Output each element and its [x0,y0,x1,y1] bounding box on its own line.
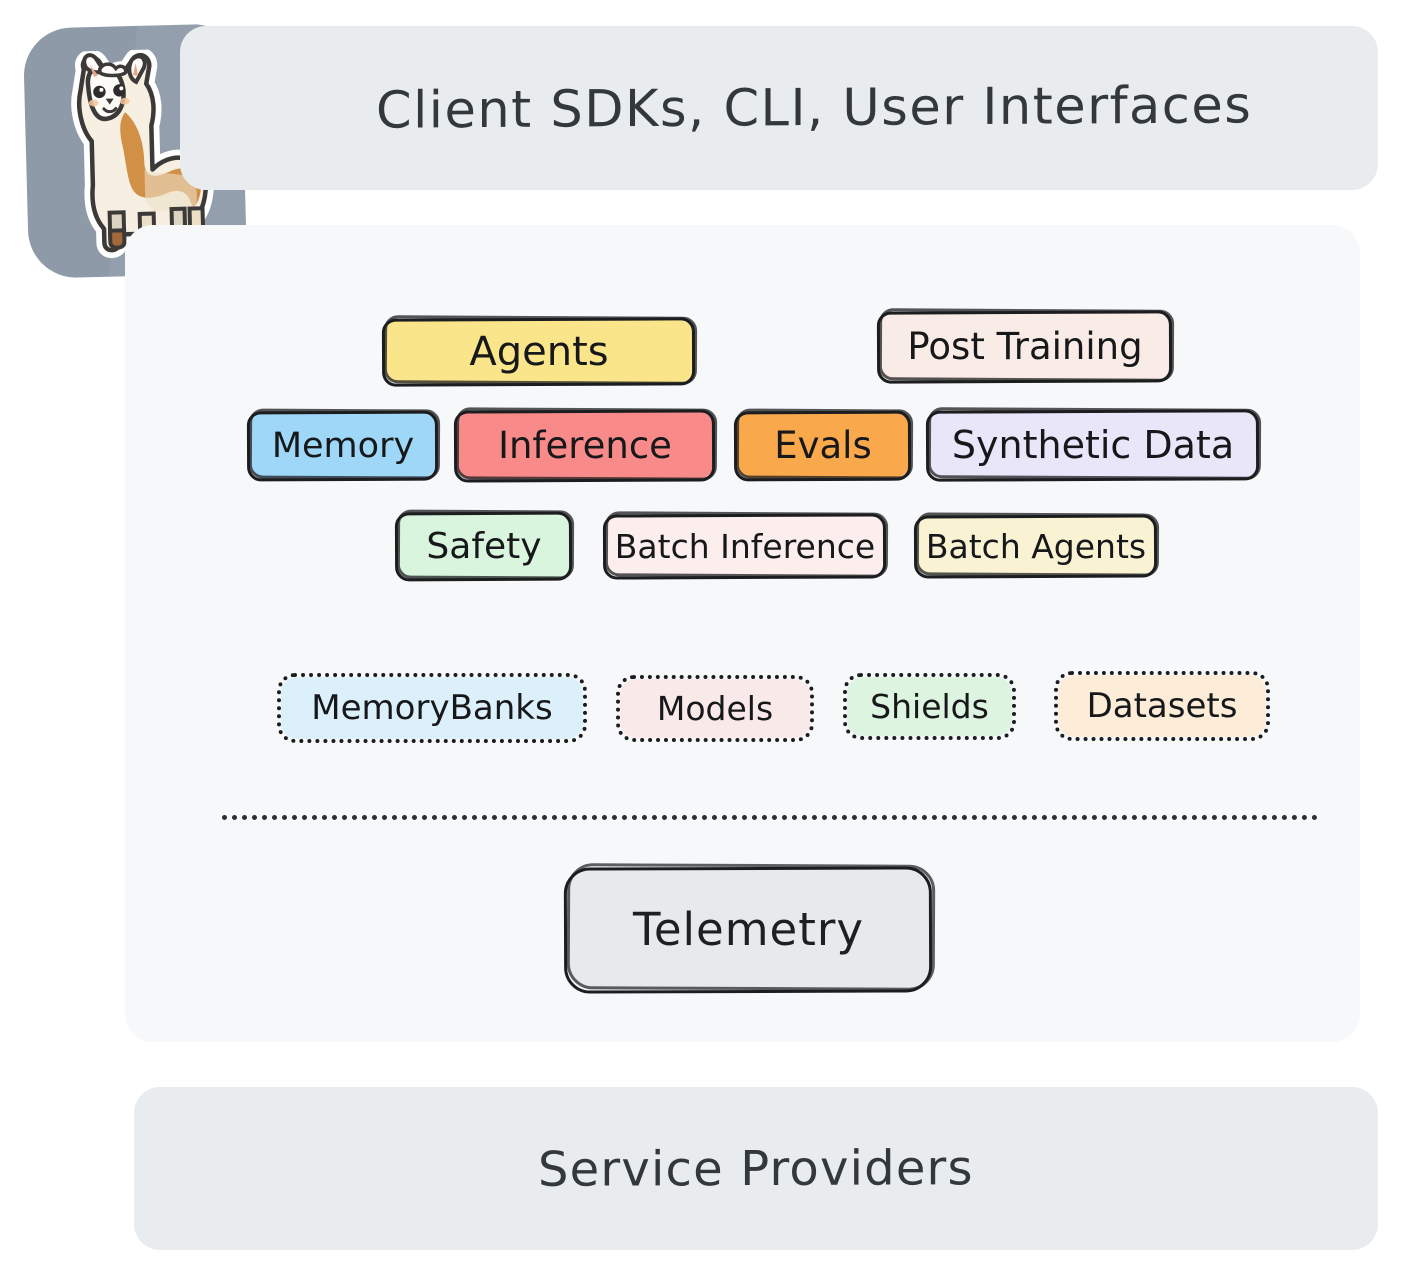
api-box-label: Synthetic Data [952,423,1234,467]
client-layer-bar: Client SDKs, CLI, User Interfaces [180,26,1378,190]
dotted-divider [222,815,1318,820]
api-box-label: Evals [774,424,872,467]
resource-box-shields[interactable]: Shields [847,677,1012,736]
api-box-agents[interactable]: Agents [385,320,693,383]
telemetry-box[interactable]: Telemetry [567,869,930,990]
resource-box-label: MemoryBanks [311,688,552,728]
resource-box-label: Datasets [1087,686,1238,726]
api-box-label: Safety [426,526,541,567]
api-box-batch-inference[interactable]: Batch Inference [606,516,884,576]
telemetry-label: Telemetry [633,903,864,956]
api-box-label: Post Training [907,325,1142,368]
api-box-label: Batch Inference [615,527,875,566]
service-providers-bar: Service Providers [134,1087,1378,1250]
resource-box-label: Shields [870,687,989,726]
api-box-safety[interactable]: Safety [398,514,570,578]
resource-box-datasets[interactable]: Datasets [1058,675,1266,737]
api-box-memory[interactable]: Memory [250,413,436,478]
api-box-post-training[interactable]: Post Training [880,313,1170,380]
api-box-inference[interactable]: Inference [457,412,713,479]
api-box-evals[interactable]: Evals [737,413,909,478]
service-providers-label: Service Providers [538,1140,974,1198]
resource-box-memory-banks[interactable]: MemoryBanks [281,677,583,739]
page-title: Client SDKs, CLI, User Interfaces [376,76,1252,140]
api-box-label: Memory [272,426,414,466]
api-box-synthetic-data[interactable]: Synthetic Data [929,412,1257,478]
api-box-label: Agents [469,329,608,375]
resource-box-label: Models [657,689,773,728]
api-box-label: Inference [498,424,672,467]
api-box-batch-agents[interactable]: Batch Agents [917,517,1155,575]
resource-box-models[interactable]: Models [620,679,810,738]
api-box-label: Batch Agents [926,527,1146,566]
